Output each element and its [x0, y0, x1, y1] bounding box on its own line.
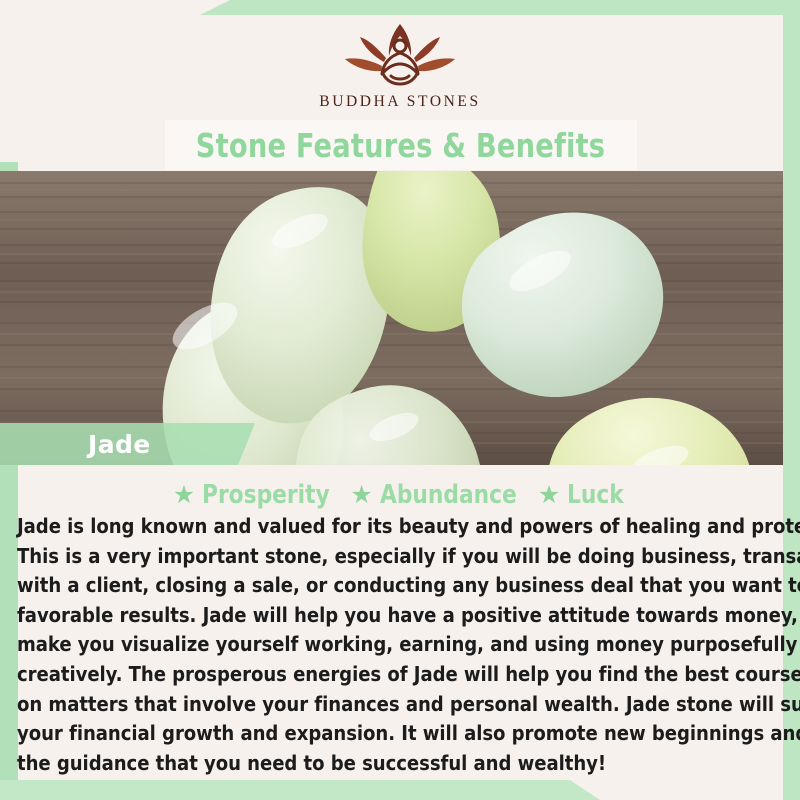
benefit-label: Luck: [567, 480, 624, 510]
star-icon: ★: [350, 483, 372, 508]
description-line: your financial growth and expansion. It …: [17, 719, 777, 749]
benefits-row: ★ Prosperity ★ Abundance ★ Luck: [18, 478, 783, 512]
benefit-item-luck: ★ Luck: [538, 480, 628, 510]
benefit-label: Abundance: [380, 480, 517, 510]
stone-photo: [0, 171, 783, 465]
brand-logo: BUDDHA STONES: [0, 18, 800, 118]
description-line: the guidance that you need to be success…: [17, 749, 777, 779]
description-line: favorable results. Jade will help you ha…: [17, 601, 777, 631]
description-line: make you visualize yourself working, ear…: [17, 630, 777, 660]
benefit-item-abundance: ★ Abundance: [350, 480, 527, 510]
description-line: Jade is long known and valued for its be…: [17, 512, 777, 542]
title-banner: Stone Features & Benefits: [165, 120, 637, 170]
description-line: on matters that involve your finances an…: [17, 690, 777, 720]
stone-description: Jade is long known and valued for its be…: [17, 512, 789, 778]
stone-name-text: Jade: [88, 430, 151, 459]
decorative-bar-top: [200, 0, 800, 15]
benefit-item-prosperity: ★ Prosperity: [173, 480, 340, 510]
stone-name-label: Jade: [0, 423, 255, 465]
page-title: Stone Features & Benefits: [196, 126, 605, 165]
description-line: This is a very important stone, especial…: [17, 542, 777, 572]
star-icon: ★: [173, 483, 195, 508]
decorative-bar-bottom: [0, 780, 600, 800]
star-icon: ★: [538, 483, 560, 508]
brand-name: BUDDHA STONES: [319, 93, 480, 111]
description-line: with a client, closing a sale, or conduc…: [17, 571, 777, 601]
description-line: creatively. The prosperous energies of J…: [17, 660, 777, 690]
infographic-page: BUDDHA STONES Stone Features & Benefits: [0, 0, 800, 800]
lotus-meditation-icon: [325, 18, 475, 90]
stone-photo-illustration: [0, 171, 783, 465]
benefit-label: Prosperity: [202, 480, 330, 510]
